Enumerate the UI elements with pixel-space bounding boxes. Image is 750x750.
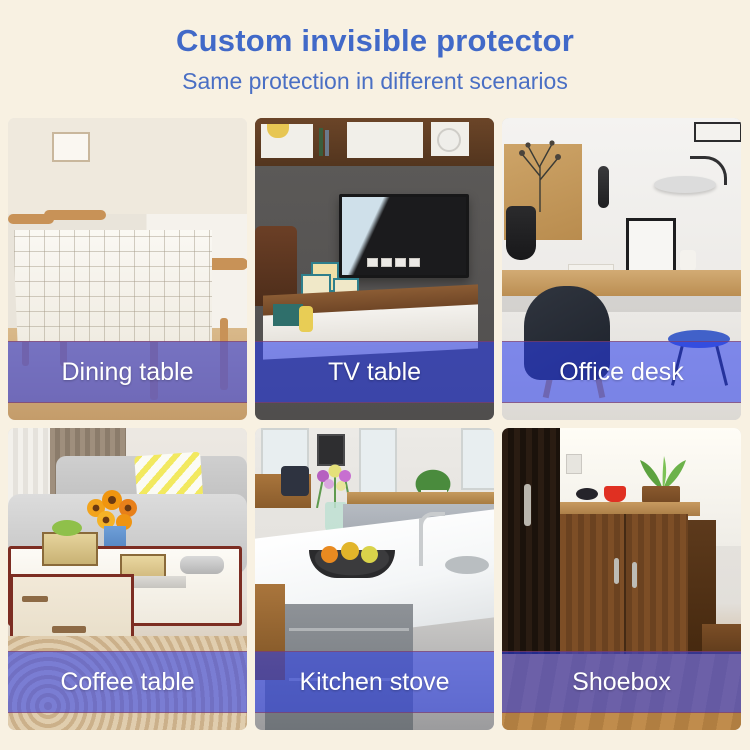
scenario-label: Office desk — [559, 360, 684, 385]
branch-icon — [510, 136, 570, 212]
vase-icon — [299, 306, 313, 332]
desk-surface — [502, 270, 741, 296]
scenario-tile-tv-table[interactable]: TV table — [255, 118, 494, 420]
page-subtitle: Same protection in different scenarios — [0, 68, 750, 96]
scenario-label: Kitchen stove — [299, 670, 449, 695]
wall-socket-icon — [395, 258, 406, 267]
scenario-label-band: TV table — [255, 341, 494, 403]
scenario-tile-shoebox[interactable]: Shoebox — [502, 428, 741, 730]
scenario-label-band: Coffee table — [8, 651, 247, 713]
scenario-grid: Dining table TV t — [8, 118, 742, 730]
scenario-label-band: Shoebox — [502, 651, 741, 713]
chair-back — [136, 268, 212, 280]
wooden-box-icon — [42, 532, 98, 566]
chair-back — [44, 210, 106, 220]
vase-icon — [680, 250, 696, 272]
scenario-tile-dining-table[interactable]: Dining table — [8, 118, 247, 420]
scenario-label: Dining table — [61, 360, 193, 385]
entry-door — [502, 428, 560, 656]
wall-socket-icon — [367, 258, 378, 267]
cabinet-door-seam — [624, 514, 626, 654]
wall-frame-icon — [694, 122, 741, 142]
chair-far — [281, 466, 309, 496]
hanging-ornament-icon — [598, 166, 609, 208]
chair-back — [204, 258, 247, 270]
fruit-icon — [361, 546, 378, 563]
cabinet-handle — [614, 558, 619, 584]
scenario-label: TV table — [328, 360, 421, 385]
scenario-label-band: Dining table — [8, 341, 247, 403]
cabinet-handle — [632, 562, 637, 588]
plant-icon — [52, 520, 82, 536]
chair-seat — [112, 294, 198, 328]
figurine-icon — [180, 556, 224, 574]
red-decor-icon — [604, 486, 626, 502]
clock-icon — [437, 128, 461, 152]
faucet — [419, 518, 423, 566]
book-icon — [325, 130, 329, 156]
fruit-icon — [321, 546, 338, 563]
scenario-tile-coffee-table[interactable]: Coffee table — [8, 428, 247, 730]
scenario-label-band: Office desk — [502, 341, 741, 403]
window — [461, 428, 494, 490]
book-icon — [319, 128, 323, 156]
window — [359, 428, 397, 494]
drawer-handle — [52, 626, 86, 633]
wall-socket-icon — [381, 258, 392, 267]
fruit-icon — [341, 542, 359, 560]
page-title: Custom invisible protector — [0, 22, 750, 59]
sink — [445, 556, 489, 574]
picture-frame-icon — [317, 434, 345, 466]
door-handle — [524, 484, 531, 526]
desk-lamp-icon — [654, 176, 716, 193]
scenario-tile-office-desk[interactable]: Office desk — [502, 118, 741, 420]
plant-icon — [634, 454, 692, 490]
scenario-label-band: Kitchen stove — [255, 651, 494, 713]
scenario-label: Shoebox — [572, 670, 671, 695]
wall-frame-icon — [52, 132, 90, 162]
drawer-handle — [22, 596, 48, 602]
vase-icon — [506, 206, 536, 260]
wood-counter-back — [347, 492, 494, 504]
light-switch-icon — [566, 454, 582, 474]
drawer-line — [289, 628, 409, 631]
wall-socket-icon — [409, 258, 420, 267]
page-header: Custom invisible protector Same protecti… — [0, 0, 750, 96]
scenario-label: Coffee table — [60, 670, 194, 695]
cabinet-compartment — [347, 122, 423, 158]
black-decor-icon — [576, 488, 598, 500]
scenario-tile-kitchen-stove[interactable]: Kitchen stove — [255, 428, 494, 730]
